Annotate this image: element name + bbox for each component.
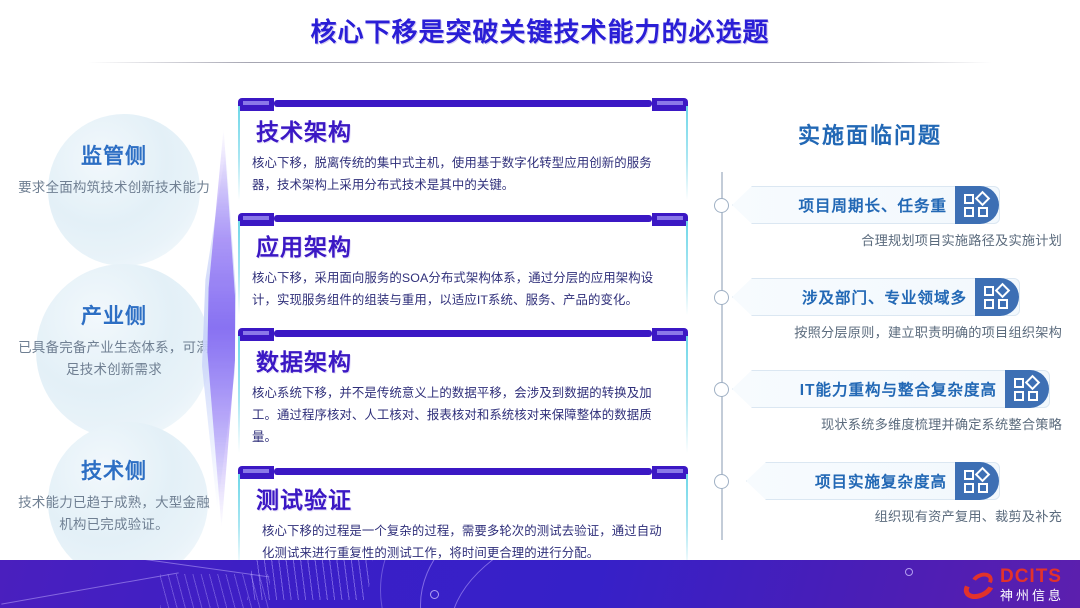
four-shapes-icon (955, 186, 999, 224)
logo-en: DCITS (1000, 567, 1064, 586)
card-left-edge (238, 474, 240, 568)
timeline-dot (714, 198, 729, 213)
card-right-edge (686, 336, 688, 452)
company-logo: DCITS 神州信息 (963, 567, 1064, 602)
side-group-title: 技术侧 (0, 455, 228, 485)
right-column: 实施面临问题 项目周期长、任务重 合理规划项目实施路径及实施计划 涉及部门、专业… (700, 100, 1070, 550)
problem-pill[interactable]: 涉及部门、专业领域多 (732, 278, 1020, 316)
side-group-desc: 已具备完备产业生态体系，可满足技术创新需求 (0, 337, 228, 381)
card-right-edge (686, 106, 688, 200)
problem-label: 项目周期长、任务重 (798, 194, 955, 216)
card-top-bracket (238, 213, 688, 226)
side-group-desc: 要求全面构筑技术创新技术能力 (0, 177, 228, 199)
card-title: 技术架构 (256, 113, 678, 147)
card-body: 核心下移，脱离传统的集中式主机，使用基于数字化转型应用创新的服务器，技术架构上采… (252, 152, 678, 196)
problem-label: 涉及部门、专业领域多 (802, 286, 975, 308)
problem-sub: 现状系统多维度梳理并确定系统整合策略 (821, 414, 1062, 433)
timeline-dot (714, 474, 729, 489)
side-group-desc: 技术能力已趋于成熟，大型金融机构已完成验证。 (0, 492, 228, 536)
card-right-edge (686, 221, 688, 315)
card-app-architecture: 应用架构 核心下移，采用面向服务的SOA分布式架构体系，通过分层的应用架构设计，… (238, 213, 688, 319)
problem-pill[interactable]: IT能力重构与整合复杂度高 (732, 370, 1050, 408)
card-top-bracket (238, 328, 688, 341)
card-title: 数据架构 (256, 343, 678, 377)
card-title: 测试验证 (256, 481, 678, 515)
right-column-title: 实施面临问题 (700, 118, 1040, 150)
card-body: 核心系统下移，并不是传统意义上的数据平移，会涉及到数据的转换及加工。通过程序核对… (252, 382, 678, 448)
card-title: 应用架构 (256, 228, 678, 262)
decor-circle-2 (905, 568, 913, 576)
problem-pill[interactable]: 项目周期长、任务重 (732, 186, 1000, 224)
architecture-card-list: 技术架构 核心下移，脱离传统的集中式主机，使用基于数字化转型应用创新的服务器，技… (238, 98, 688, 581)
timeline-dot (714, 382, 729, 397)
card-top-bracket (238, 466, 688, 479)
timeline-dot (714, 290, 729, 305)
card-data-architecture: 数据架构 核心系统下移，并不是传统意义上的数据平移，会涉及到数据的转换及加工。通… (238, 328, 688, 456)
side-group-industry: 产业侧 已具备完备产业生态体系，可满足技术创新需求 (0, 300, 228, 381)
decor-line-1 (1, 572, 178, 604)
side-group-regulatory: 监管侧 要求全面构筑技术创新技术能力 (0, 140, 228, 199)
problem-sub: 组织现有资产复用、裁剪及补充 (875, 506, 1062, 525)
footer-band: DCITS 神州信息 (0, 560, 1080, 608)
logo-text: DCITS 神州信息 (1000, 567, 1064, 602)
page-title: 核心下移是突破关键技术能力的必选题 (0, 12, 1080, 49)
four-shapes-icon (955, 462, 999, 500)
left-column: 监管侧 要求全面构筑技术创新技术能力 产业侧 已具备完备产业生态体系，可满足技术… (0, 92, 228, 552)
problem-sub: 合理规划项目实施路径及实施计划 (861, 230, 1062, 249)
problem-pill[interactable]: 项目实施复杂度高 (746, 462, 1000, 500)
card-left-edge (238, 336, 240, 452)
four-shapes-icon (1005, 370, 1049, 408)
problem-sub: 按照分层原则，建立职责明确的项目组织架构 (794, 322, 1062, 341)
title-divider (88, 62, 992, 63)
slide-root: 核心下移是突破关键技术能力的必选题 监管侧 要求全面构筑技术创新技术能力 产业侧… (0, 0, 1080, 608)
side-group-technology: 技术侧 技术能力已趋于成熟，大型金融机构已完成验证。 (0, 455, 228, 536)
problem-label: 项目实施复杂度高 (815, 470, 955, 492)
card-top-bracket (238, 98, 688, 111)
side-group-title: 监管侧 (0, 140, 228, 170)
card-body: 核心下移，采用面向服务的SOA分布式架构体系，通过分层的应用架构设计，实现服务组… (252, 267, 678, 311)
card-left-edge (238, 221, 240, 315)
logo-cn: 神州信息 (1000, 589, 1064, 602)
card-left-edge (238, 106, 240, 200)
side-group-title: 产业侧 (0, 300, 228, 330)
card-test-verification: 测试验证 核心下移的过程是一个复杂的过程，需要多轮次的测试去验证，通过自动化测试… (238, 466, 688, 572)
decor-hatch-2 (160, 574, 270, 608)
four-shapes-icon (975, 278, 1019, 316)
card-right-edge (686, 474, 688, 568)
decor-circle-1 (430, 590, 439, 599)
card-body: 核心下移的过程是一个复杂的过程，需要多轮次的测试去验证，通过自动化测试来进行重复… (252, 520, 678, 564)
logo-swoosh-icon (963, 572, 997, 602)
card-tech-architecture: 技术架构 核心下移，脱离传统的集中式主机，使用基于数字化转型应用创新的服务器，技… (238, 98, 688, 204)
problem-label: IT能力重构与整合复杂度高 (800, 378, 1005, 400)
